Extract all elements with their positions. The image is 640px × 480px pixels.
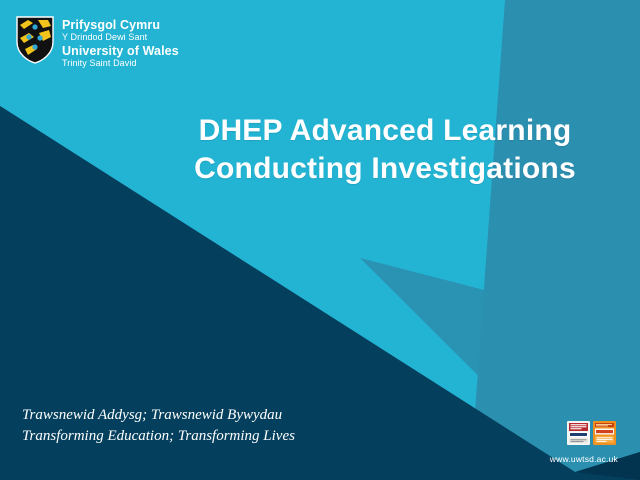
university-logo-text: Prifysgol Cymru Y Drindod Dewi Sant Univ… (62, 16, 179, 70)
tagline-english: Transforming Education; Transforming Liv… (22, 426, 295, 448)
logo-welsh-name: Prifysgol Cymru (62, 18, 179, 32)
awards-badge (593, 421, 616, 445)
slide-title: DHEP Advanced Learning Conducting Invest… (150, 112, 620, 188)
presentation-slide: Prifysgol Cymru Y Drindod Dewi Sant Univ… (0, 0, 640, 480)
logo-english-name: University of Wales (62, 44, 179, 58)
award-badges (567, 421, 616, 445)
slide-title-line-2: Conducting Investigations (150, 150, 620, 188)
institution-tagline: Trawsnewid Addysg; Trawsnewid Bywydau Tr… (22, 405, 295, 449)
slide-title-line-1: DHEP Advanced Learning (150, 112, 620, 150)
uwtsd-shield-icon (16, 16, 54, 64)
website-url[interactable]: www.uwtsd.ac.uk (550, 454, 618, 464)
league-award-badge (567, 421, 590, 445)
university-logo: Prifysgol Cymru Y Drindod Dewi Sant Univ… (16, 16, 179, 70)
logo-welsh-subname: Y Drindod Dewi Sant (62, 32, 179, 42)
logo-english-subname: Trinity Saint David (62, 58, 179, 68)
tagline-welsh: Trawsnewid Addysg; Trawsnewid Bywydau (22, 405, 295, 427)
